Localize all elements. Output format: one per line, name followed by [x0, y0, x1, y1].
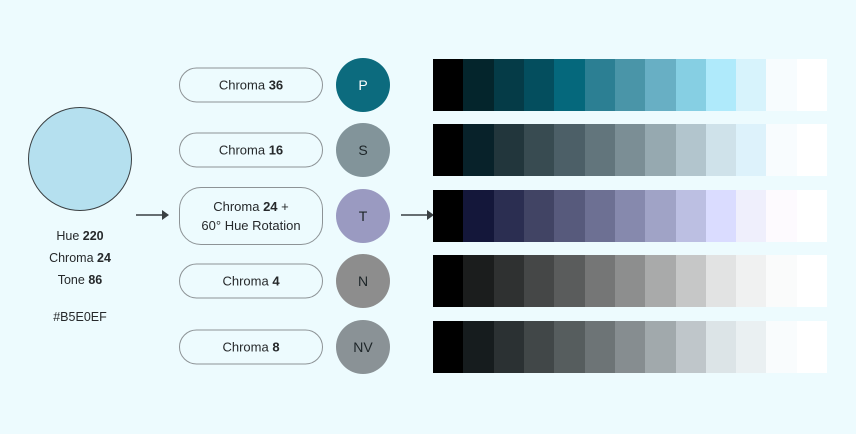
palette-row-neutral: Chroma 4N	[0, 255, 856, 307]
ramp-swatch[interactable]	[736, 321, 766, 373]
ramp-swatch[interactable]	[524, 124, 554, 176]
ramp-swatch[interactable]	[585, 321, 615, 373]
chroma-rule-value: 4	[272, 274, 279, 289]
palette-badge-label: NV	[353, 340, 372, 354]
palette-rows: Chroma 36PChroma 16SChroma 24 +60° Hue R…	[0, 0, 856, 434]
ramp-swatch[interactable]	[645, 190, 675, 242]
ramp-swatch[interactable]	[706, 190, 736, 242]
ramp-swatch[interactable]	[615, 321, 645, 373]
chroma-rule-pill-secondary[interactable]: Chroma 16	[179, 133, 323, 168]
palette-badge-secondary[interactable]: S	[336, 123, 390, 177]
chroma-rule-pill-tertiary[interactable]: Chroma 24 +60° Hue Rotation	[179, 187, 323, 245]
ramp-swatch[interactable]	[645, 321, 675, 373]
ramp-swatch[interactable]	[463, 255, 493, 307]
ramp-swatch[interactable]	[615, 255, 645, 307]
ramp-swatch[interactable]	[766, 190, 796, 242]
ramp-swatch[interactable]	[554, 190, 584, 242]
chroma-rule-pill-neutral-variant[interactable]: Chroma 8	[179, 330, 323, 365]
palette-row-neutral-variant: Chroma 8NV	[0, 321, 856, 373]
chroma-rule-prefix: Chroma	[219, 143, 269, 158]
palette-badge-label: S	[358, 143, 367, 157]
chroma-rule-prefix: Chroma	[222, 274, 272, 289]
chroma-rule-prefix: Chroma	[222, 340, 272, 355]
tonal-ramp-neutral-variant	[433, 321, 827, 373]
ramp-swatch[interactable]	[524, 321, 554, 373]
ramp-swatch[interactable]	[463, 124, 493, 176]
ramp-swatch[interactable]	[706, 255, 736, 307]
ramp-swatch[interactable]	[524, 59, 554, 111]
palette-row-secondary: Chroma 16S	[0, 124, 856, 176]
palette-badge-label: N	[358, 274, 368, 288]
chroma-rule-label: Chroma 8	[222, 338, 279, 357]
ramp-swatch[interactable]	[797, 255, 827, 307]
ramp-swatch[interactable]	[676, 59, 706, 111]
ramp-swatch[interactable]	[676, 124, 706, 176]
ramp-swatch[interactable]	[736, 124, 766, 176]
palette-badge-label: T	[359, 209, 368, 223]
ramp-swatch[interactable]	[433, 321, 463, 373]
ramp-swatch[interactable]	[524, 190, 554, 242]
ramp-swatch[interactable]	[494, 321, 524, 373]
palette-badge-neutral[interactable]: N	[336, 254, 390, 308]
tonal-ramp-tertiary	[433, 190, 827, 242]
ramp-swatch[interactable]	[554, 255, 584, 307]
tonal-ramp-secondary	[433, 124, 827, 176]
chroma-rule-line2: 60° Hue Rotation	[201, 218, 300, 233]
ramp-swatch[interactable]	[766, 255, 796, 307]
ramp-swatch[interactable]	[766, 124, 796, 176]
chroma-rule-value: 16	[269, 143, 283, 158]
ramp-swatch[interactable]	[554, 124, 584, 176]
chroma-rule-pill-neutral[interactable]: Chroma 4	[179, 264, 323, 299]
ramp-swatch[interactable]	[615, 59, 645, 111]
ramp-swatch[interactable]	[433, 190, 463, 242]
ramp-swatch[interactable]	[494, 124, 524, 176]
palette-row-primary: Chroma 36P	[0, 59, 856, 111]
chroma-rule-prefix: Chroma	[213, 199, 263, 214]
ramp-swatch[interactable]	[585, 190, 615, 242]
palette-row-tertiary: Chroma 24 +60° Hue RotationT	[0, 190, 856, 242]
chroma-rule-value: 36	[269, 78, 283, 93]
chroma-rule-label: Chroma 36	[219, 76, 283, 95]
ramp-swatch[interactable]	[554, 321, 584, 373]
ramp-swatch[interactable]	[524, 255, 554, 307]
chroma-rule-prefix: Chroma	[219, 78, 269, 93]
ramp-swatch[interactable]	[554, 59, 584, 111]
ramp-swatch[interactable]	[585, 255, 615, 307]
ramp-swatch[interactable]	[585, 59, 615, 111]
chroma-rule-value: 8	[272, 340, 279, 355]
ramp-swatch[interactable]	[736, 190, 766, 242]
ramp-swatch[interactable]	[766, 321, 796, 373]
ramp-swatch[interactable]	[463, 59, 493, 111]
ramp-swatch[interactable]	[494, 255, 524, 307]
palette-badge-primary[interactable]: P	[336, 58, 390, 112]
ramp-swatch[interactable]	[676, 321, 706, 373]
ramp-swatch[interactable]	[494, 59, 524, 111]
ramp-swatch[interactable]	[615, 124, 645, 176]
palette-badge-label: P	[358, 78, 367, 92]
ramp-swatch[interactable]	[736, 255, 766, 307]
ramp-swatch[interactable]	[736, 59, 766, 111]
chroma-rule-label: Chroma 24 +60° Hue Rotation	[201, 197, 300, 235]
ramp-swatch[interactable]	[645, 59, 675, 111]
ramp-swatch[interactable]	[797, 59, 827, 111]
tonal-ramp-neutral	[433, 255, 827, 307]
ramp-swatch[interactable]	[433, 255, 463, 307]
ramp-swatch[interactable]	[676, 255, 706, 307]
ramp-swatch[interactable]	[645, 124, 675, 176]
chroma-rule-label: Chroma 4	[222, 272, 279, 291]
chroma-rule-label: Chroma 16	[219, 141, 283, 160]
ramp-swatch[interactable]	[676, 190, 706, 242]
ramp-swatch[interactable]	[797, 321, 827, 373]
ramp-swatch[interactable]	[585, 124, 615, 176]
ramp-swatch[interactable]	[494, 190, 524, 242]
ramp-swatch[interactable]	[463, 321, 493, 373]
ramp-swatch[interactable]	[797, 190, 827, 242]
ramp-swatch[interactable]	[706, 59, 736, 111]
ramp-swatch[interactable]	[615, 190, 645, 242]
ramp-swatch[interactable]	[766, 59, 796, 111]
chroma-rule-suffix: +	[278, 199, 289, 214]
palette-badge-neutral-variant[interactable]: NV	[336, 320, 390, 374]
ramp-swatch[interactable]	[463, 190, 493, 242]
ramp-swatch[interactable]	[706, 321, 736, 373]
ramp-swatch[interactable]	[433, 124, 463, 176]
ramp-swatch[interactable]	[797, 124, 827, 176]
ramp-swatch[interactable]	[706, 124, 736, 176]
chroma-rule-pill-primary[interactable]: Chroma 36	[179, 68, 323, 103]
tonal-ramp-primary	[433, 59, 827, 111]
ramp-swatch[interactable]	[433, 59, 463, 111]
ramp-swatch[interactable]	[645, 255, 675, 307]
palette-badge-tertiary[interactable]: T	[336, 189, 390, 243]
chroma-rule-value: 24	[263, 199, 277, 214]
